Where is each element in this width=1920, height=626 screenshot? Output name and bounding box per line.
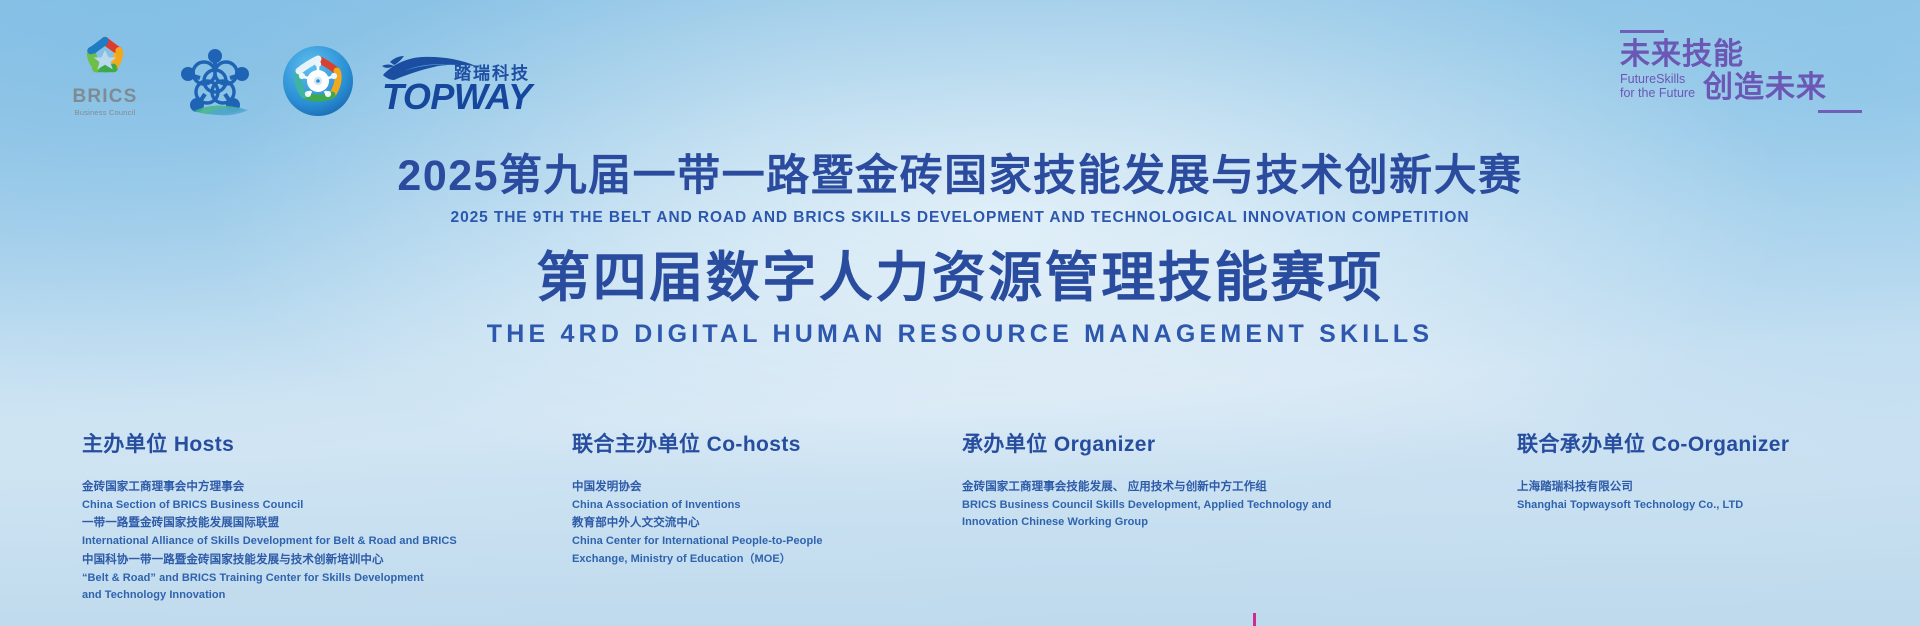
event-title-en: THE 4RD DIGITAL HUMAN RESOURCE MANAGEMEN…: [0, 320, 1920, 349]
competition-title-en: 2025 THE 9TH THE BELT AND ROAD AND BRICS…: [0, 209, 1920, 227]
sponsor-logo-row: BRICS Business Council: [62, 34, 530, 117]
belt-road-brics-skills-alliance-emblem: [174, 47, 256, 117]
brics-star-icon: [79, 34, 131, 84]
skills-development-round-emblem: [282, 45, 354, 117]
credits-column-organizer: 承办单位 Organizer 金砖国家工商理事会技能发展、 应用技术与创新中方工…: [962, 428, 1517, 605]
credits-heading: 联合主办单位 Co-hosts: [572, 428, 962, 458]
organization-line: Exchange, Ministry of Education（MOE）: [572, 551, 962, 569]
organization-line: China Center for International People-to…: [572, 533, 962, 551]
organization-line: Shanghai Topwaysoft Technology Co., LTD: [1517, 497, 1897, 515]
organization-line: and Technology Innovation: [82, 587, 572, 605]
slogan-en-lines: FutureSkillsfor the Future: [1620, 72, 1695, 104]
brics-wordmark: BRICS: [72, 87, 137, 106]
competition-banner: BRICS Business Council: [0, 0, 1920, 626]
topway-logo: 踏瑞科技 TOPWAY: [380, 51, 530, 117]
organization-line: 中国科协一带一路暨金砖国家技能发展与技术创新培训中心: [82, 551, 572, 570]
organization-list: 上海踏瑞科技有限公司 Shanghai Topwaysoft Technolog…: [1517, 478, 1897, 514]
organization-line: 金砖国家工商理事会技能发展、 应用技术与创新中方工作组: [962, 478, 1517, 497]
brics-subtitle: Business Council: [75, 108, 136, 117]
credits-heading: 联合承办单位 Co-Organizer: [1517, 428, 1897, 458]
event-title-cn: 第四届数字人力资源管理技能赛项: [0, 247, 1920, 309]
organization-line: China Section of BRICS Business Council: [82, 497, 572, 515]
slogan-en-line1: FutureSkills: [1620, 72, 1685, 86]
bottom-color-mark: [1253, 613, 1256, 626]
organization-line: China Association of Inventions: [572, 497, 962, 515]
slogan-rule-bottom: [1818, 110, 1862, 113]
credits-row: 主办单位 Hosts 金砖国家工商理事会中方理事会 China Section …: [82, 428, 1860, 605]
title-block: 2025第九届一带一路暨金砖国家技能发展与技术创新大赛 2025 THE 9TH…: [0, 152, 1920, 349]
organization-line: “Belt & Road” and BRICS Training Center …: [82, 570, 572, 588]
credits-column-coorganizer: 联合承办单位 Co-Organizer 上海踏瑞科技有限公司 Shanghai …: [1517, 428, 1897, 605]
organization-line: BRICS Business Council Skills Developmen…: [962, 497, 1517, 515]
organization-line: 上海踏瑞科技有限公司: [1517, 478, 1897, 497]
credits-column-cohosts: 联合主办单位 Co-hosts 中国发明协会 China Association…: [572, 428, 962, 605]
credits-heading: 主办单位 Hosts: [82, 428, 572, 458]
organization-line: 教育部中外人文交流中心: [572, 514, 962, 533]
round-star-gear-icon: [282, 45, 354, 117]
organization-line: 金砖国家工商理事会中方理事会: [82, 478, 572, 497]
topway-wordmark: TOPWAY: [382, 79, 532, 115]
future-skills-slogan: 未来技能 FutureSkillsfor the Future 创造未来: [1618, 30, 1868, 113]
organization-list: 金砖国家工商理事会技能发展、 应用技术与创新中方工作组 BRICS Busine…: [962, 478, 1517, 532]
slogan-cn-line2: 创造未来: [1703, 72, 1827, 104]
organization-list: 中国发明协会 China Association of Inventions 教…: [572, 478, 962, 569]
slogan-rule-top: [1620, 30, 1664, 33]
alliance-knot-icon: [174, 47, 256, 117]
credits-heading: 承办单位 Organizer: [962, 428, 1517, 458]
organization-line: 一带一路暨金砖国家技能发展国际联盟: [82, 514, 572, 533]
competition-title-cn: 2025第九届一带一路暨金砖国家技能发展与技术创新大赛: [0, 152, 1920, 200]
organization-line: Innovation Chinese Working Group: [962, 514, 1517, 532]
slogan-en-line2: for the Future: [1620, 86, 1695, 100]
organization-line: 中国发明协会: [572, 478, 962, 497]
organization-line: International Alliance of Skills Develop…: [82, 533, 572, 551]
credits-column-hosts: 主办单位 Hosts 金砖国家工商理事会中方理事会 China Section …: [82, 428, 572, 605]
brics-business-council-logo: BRICS Business Council: [62, 34, 148, 117]
slogan-cn-line1: 未来技能: [1620, 39, 1868, 71]
organization-list: 金砖国家工商理事会中方理事会 China Section of BRICS Bu…: [82, 478, 572, 605]
